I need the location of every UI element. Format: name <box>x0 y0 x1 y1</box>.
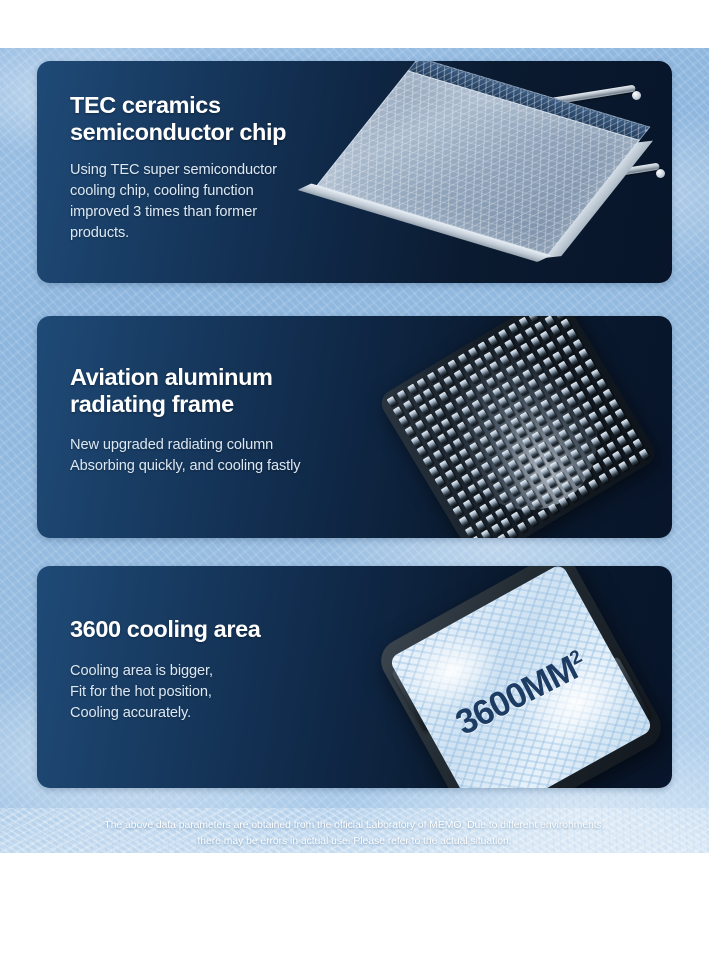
heatsink-pin <box>552 351 563 362</box>
heatsink-pin-row <box>441 389 614 498</box>
heatsink-pin <box>534 389 545 400</box>
cooling-plate-frosted-surface: 3600MM2 <box>388 566 653 788</box>
heatsink-pin <box>520 343 531 354</box>
heatsink-pin <box>538 441 549 452</box>
heatsink-pin <box>498 397 509 408</box>
heatsink-pin <box>519 479 530 490</box>
heatsink-pin <box>557 335 568 346</box>
heatsink-pin <box>489 429 500 440</box>
tec-plate-bottom-edge <box>297 183 551 262</box>
heatsink-pin <box>558 497 569 508</box>
heatsink-pin <box>572 475 583 486</box>
heatsink-body <box>377 316 660 538</box>
heatsink-pin <box>585 359 596 370</box>
heatsink-pin-row <box>429 369 602 478</box>
card-description-frame: New upgraded radiating column Absorbing … <box>70 435 300 477</box>
heatsink-pin <box>621 419 632 430</box>
heatsink-pin <box>465 389 476 400</box>
heatsink-pin <box>536 415 547 426</box>
heatsink-pin <box>558 361 569 372</box>
heatsink-pin-row <box>447 399 620 508</box>
heatsink-pin <box>497 534 508 538</box>
heatsink-pin <box>417 378 428 389</box>
heatsink-pin <box>441 486 452 497</box>
heatsink-pin <box>598 473 609 484</box>
heatsink-pin <box>551 325 562 336</box>
heatsink-pin <box>508 323 519 334</box>
heatsink-pin <box>469 373 480 384</box>
heatsink-base <box>377 316 660 538</box>
heatsink-pin <box>560 387 571 398</box>
card-description-cooling-area: Cooling area is bigger, Fit for the hot … <box>70 661 260 724</box>
heatsink-pin <box>563 345 574 356</box>
heatsink-pin <box>492 387 503 398</box>
heatsink-pin <box>499 492 510 503</box>
heatsink-pin <box>572 407 583 418</box>
heatsink-pin <box>639 449 650 460</box>
heatsink-pin <box>409 410 420 421</box>
heatsink-pin <box>593 395 604 406</box>
heatsink-highlight <box>412 316 628 538</box>
heatsink-pin <box>608 467 619 478</box>
heatsink-pin <box>511 512 522 523</box>
heatsink-pin <box>508 391 519 402</box>
heatsink-pin <box>498 329 509 340</box>
heatsink-pin <box>429 466 440 477</box>
heatsink-pin <box>421 430 432 441</box>
heatsink-pin <box>552 419 563 430</box>
heatsink-pin-row <box>399 319 572 428</box>
heatsink-pin <box>550 393 561 404</box>
heatsink-pin <box>505 502 516 513</box>
heatsink-pin <box>517 522 528 533</box>
heatsink-pin <box>548 503 559 514</box>
heatsink-pin <box>570 449 581 460</box>
heatsink-pin <box>471 399 482 410</box>
cooling-plate-clip-top-left <box>391 662 443 732</box>
heatsink-pin <box>485 446 496 457</box>
heatsink-pin <box>397 390 408 401</box>
heatsink-pin <box>525 489 536 500</box>
heatsink-pin <box>609 399 620 410</box>
heatsink-pin <box>578 417 589 428</box>
heatsink-pin <box>443 376 454 387</box>
card-text-block-tec: TEC ceramics semiconductor chip Using TE… <box>70 92 286 243</box>
heatsink-pin <box>542 357 553 368</box>
heatsink-pin <box>501 518 512 529</box>
heatsink-pin-row <box>435 379 608 488</box>
heatsink-pin <box>465 458 476 469</box>
heatsink-pin <box>524 463 535 474</box>
heatsink-pin <box>467 484 478 495</box>
heatsink-pin <box>504 407 515 418</box>
card-title-cooling-area: 3600 cooling area <box>70 616 260 643</box>
heatsink-pin <box>530 473 541 484</box>
heatsink-pin <box>491 524 502 535</box>
heatsink-pin <box>528 447 539 458</box>
heatsink-pin <box>542 493 553 504</box>
heatsink-pin <box>568 423 579 434</box>
heatsink-pin <box>447 496 458 507</box>
heatsink-pin <box>548 367 559 378</box>
heatsink-pin <box>439 392 450 403</box>
heatsink-pin <box>413 394 424 405</box>
heatsink-pin <box>481 530 492 538</box>
heatsink-pin <box>445 402 456 413</box>
feature-card-cooling-area: 3600MM2 3600 cooling area Cooling area i… <box>37 566 672 788</box>
heatsink-pin <box>473 494 484 505</box>
heatsink-pin <box>588 411 599 422</box>
cooling-plate-area-unit-exponent: 2 <box>567 647 585 670</box>
heatsink-pin-row <box>393 316 566 417</box>
heatsink-pin-row <box>417 349 590 458</box>
heatsink-pin <box>512 443 523 454</box>
heatsink-pin <box>546 409 557 420</box>
heatsink-pin <box>463 432 474 443</box>
heatsink-pin <box>459 448 470 459</box>
heatsink-pin <box>556 471 567 482</box>
tec-lead-tip-bottom <box>656 169 665 178</box>
heatsink-pin <box>536 347 547 358</box>
heatsink-pin <box>483 488 494 499</box>
heatsink-pin <box>435 408 446 419</box>
tec-lead-tip-top <box>632 91 641 100</box>
heatsink-pin <box>522 369 533 380</box>
heatsink-pin <box>425 414 436 425</box>
cooling-plate-body: 3600MM2 <box>373 566 668 788</box>
heatsink-pin <box>599 405 610 416</box>
heatsink-pin <box>555 316 566 320</box>
heatsink-pin <box>471 536 482 538</box>
heatsink-pin <box>546 341 557 352</box>
heatsink-pin-row <box>477 449 650 538</box>
heatsink-pin <box>556 403 567 414</box>
heatsink-pin <box>427 372 438 383</box>
heatsink-pin <box>575 365 586 376</box>
heatsink-pin-row <box>405 329 578 438</box>
cooling-plate-clip-bottom-right <box>599 656 651 726</box>
heatsink-pin <box>507 459 518 470</box>
heatsink-pin <box>586 453 597 464</box>
heatsink-pin <box>567 329 578 340</box>
heatsink-pin <box>587 385 598 396</box>
heatsink-pin <box>509 485 520 496</box>
heatsink-pin <box>527 515 538 526</box>
heatsink-pin <box>449 454 460 465</box>
heatsink-pin <box>584 427 595 438</box>
heatsink-pin <box>387 396 398 407</box>
heatsink-pin <box>495 508 506 519</box>
heatsink-pin <box>546 477 557 488</box>
heatsink-pin <box>528 379 539 390</box>
heatsink-pin <box>488 403 499 414</box>
heatsink-pin <box>612 451 623 462</box>
heatsink-pin <box>566 397 577 408</box>
heatsink-pin <box>393 406 404 417</box>
heatsink-pin <box>475 520 486 531</box>
heatsink-pin <box>453 369 464 380</box>
cooling-plate-image: 3600MM2 <box>382 580 672 788</box>
heatsink-pin <box>544 316 555 326</box>
heatsink-pin <box>482 393 493 404</box>
heatsink-pin <box>486 377 497 388</box>
heatsink-pin <box>536 483 547 494</box>
disclaimer-line-1: The above data parameters are obtained f… <box>8 818 701 834</box>
card-text-block-frame: Aviation aluminum radiating frame New up… <box>70 364 300 477</box>
heatsink-pin <box>542 425 553 436</box>
heatsink-pin <box>457 353 468 364</box>
heatsink-pin <box>526 353 537 364</box>
heatsink-pin-row <box>459 419 632 528</box>
heatsink-pin <box>445 470 456 481</box>
heatsink-pin <box>459 379 470 390</box>
heatsink-pin-row <box>465 429 638 538</box>
heatsink-pin <box>530 337 541 348</box>
heatsink-pin <box>602 457 613 468</box>
heatsink-pin <box>403 400 414 411</box>
heatsink-pin <box>415 420 426 431</box>
heatsink-pin <box>427 440 438 451</box>
heatsink-pin <box>526 421 537 432</box>
disclaimer-text: The above data parameters are obtained f… <box>0 818 709 850</box>
heatsink-pin <box>468 347 479 358</box>
heatsink-pin <box>579 349 590 360</box>
heatsink-pin <box>490 361 501 372</box>
heatsink-pin <box>618 461 629 472</box>
heatsink-pin <box>566 465 577 476</box>
heatsink-pin <box>516 359 527 370</box>
heatsink-pin <box>479 504 490 515</box>
heatsink-pin <box>600 431 611 442</box>
heatsink-pin <box>453 438 464 449</box>
cooling-plate-area-label: 3600MM2 <box>450 644 593 743</box>
heatsink-pin <box>580 443 591 454</box>
heatsink-pin <box>532 363 543 374</box>
card-title-frame: Aviation aluminum radiating frame <box>70 364 300 419</box>
heatsink-pin-row <box>453 409 626 518</box>
heatsink-pin-row <box>471 439 644 538</box>
heatsink-pin <box>463 500 474 511</box>
heatsink-pin <box>524 395 535 406</box>
heatsink-pin <box>554 445 565 456</box>
heatsink-pin <box>518 317 529 328</box>
heatsink-pin <box>561 319 572 330</box>
tec-plate-honeycomb-face <box>316 70 640 255</box>
cooling-plate-vent-lower <box>594 641 628 695</box>
heatsink-pin <box>507 528 518 538</box>
heatsink-pin <box>516 427 527 438</box>
heatsink-pin <box>531 499 542 510</box>
heatsink-pin <box>502 381 513 392</box>
infographic-page: TEC ceramics semiconductor chip Using TE… <box>0 0 709 968</box>
heatsink-pin <box>597 379 608 390</box>
heatsink-pin <box>574 433 585 444</box>
heatsink-pin <box>540 331 551 342</box>
heatsink-pin <box>503 475 514 486</box>
tec-lead-wire-bottom <box>552 163 660 187</box>
heatsink-pin <box>495 439 506 450</box>
heatsink-pin <box>617 435 628 446</box>
heatsink-pin <box>552 487 563 498</box>
tec-plate-top-edge <box>407 61 650 141</box>
heatsink-pin <box>611 425 622 436</box>
heatsink-pin <box>484 351 495 362</box>
heatsink-pin <box>615 409 626 420</box>
heatsink-pin <box>506 365 517 376</box>
heatsink-pin <box>457 422 468 433</box>
heatsink-pin <box>457 490 468 501</box>
card-description-tec: Using TEC super semiconductor cooling ch… <box>70 160 286 243</box>
heatsink-pin <box>544 451 555 462</box>
heatsink-pin <box>453 506 464 517</box>
heatsink-pin <box>476 383 487 394</box>
heatsink-pin <box>439 460 450 471</box>
heatsink-pin <box>455 464 466 475</box>
tec-plate-right-edge <box>545 141 653 258</box>
heatsink-pin <box>510 417 521 428</box>
heatsink-pin <box>455 396 466 407</box>
heatsink-pin <box>481 462 492 473</box>
heatsink-pin <box>500 423 511 434</box>
heatsink-pin <box>590 437 601 448</box>
heatsink-pin <box>441 418 452 429</box>
heatsink-pin <box>588 479 599 490</box>
heatsink-pin <box>477 409 488 420</box>
heatsink-pin <box>497 466 508 477</box>
heatsink-pin <box>506 433 517 444</box>
heatsink-pin <box>435 476 446 487</box>
heatsink-pin <box>540 399 551 410</box>
heatsink-pin <box>399 416 410 427</box>
cooling-plate-area-value: 3600MM <box>450 649 584 743</box>
heatsink-pin-row <box>423 359 596 468</box>
heatsink-pin-row <box>387 316 560 407</box>
heatsink-pin <box>407 384 418 395</box>
heatsink-pin <box>548 435 559 446</box>
heatsink-pin <box>570 381 581 392</box>
heatsink-pin <box>471 468 482 479</box>
heatsink-pin <box>405 426 416 437</box>
heatsink-pin <box>447 360 458 371</box>
heatsink-pin <box>469 510 480 521</box>
heatsink-pin <box>534 321 545 332</box>
tec-lead-wire-top <box>528 85 636 109</box>
heatsink-pin <box>443 444 454 455</box>
heatsink-pin <box>560 455 571 466</box>
heatsink-pin <box>568 491 579 502</box>
heatsink-pin <box>596 447 607 458</box>
heatsink-pin <box>459 516 470 527</box>
heatsink-pin <box>500 355 511 366</box>
heatsink-pin <box>564 439 575 450</box>
heatsink-pin <box>538 373 549 384</box>
heatsink-pin <box>582 469 593 480</box>
heatsink-pin <box>521 505 532 516</box>
heatsink-pin <box>522 437 533 448</box>
heatsink-pin <box>411 436 422 447</box>
heatsink-pin <box>483 419 494 430</box>
heatsink-pin <box>512 375 523 386</box>
heatsink-pin <box>469 442 480 453</box>
heatsink-pin <box>576 391 587 402</box>
heatsink-pin <box>594 421 605 432</box>
heatsink-pin <box>528 316 539 322</box>
feature-card-radiating-frame: Aviation aluminum radiating frame New up… <box>37 316 672 538</box>
heatsink-pin <box>478 341 489 352</box>
tec-ceramic-plate <box>316 70 640 255</box>
heatsink-pin <box>491 456 502 467</box>
heatsink-pin <box>573 339 584 350</box>
heatsink-pin <box>524 327 535 338</box>
heatsink-pin <box>477 478 488 489</box>
heatsink-pin <box>510 349 521 360</box>
heatsink-pin <box>493 482 504 493</box>
heatsink-pin <box>423 456 434 467</box>
heatsink-pin <box>429 398 440 409</box>
heatsink-pin <box>504 339 515 350</box>
heatsink-pin <box>431 424 442 435</box>
heatsink-pin <box>419 404 430 415</box>
heatsink-pin <box>465 526 476 537</box>
heatsink-pin <box>494 345 505 356</box>
heatsink-pin <box>514 401 525 412</box>
heatsink-pin <box>554 377 565 388</box>
heatsink-pin <box>581 375 592 386</box>
heatsink-pin <box>451 480 462 491</box>
heatsink-pin <box>562 413 573 424</box>
heatsink-pin <box>629 455 640 466</box>
heatsink-pin <box>578 485 589 496</box>
heatsink-pin <box>562 481 573 492</box>
heatsink-pin <box>514 333 525 344</box>
heatsink-pin <box>461 474 472 485</box>
heatsink-pin <box>479 436 490 447</box>
heatsink-pin <box>461 406 472 417</box>
heatsink-pin <box>433 382 444 393</box>
heatsink-pin <box>463 363 474 374</box>
heatsink-pin <box>417 446 428 457</box>
heatsink-pin <box>603 389 614 400</box>
heatsink-pin <box>592 463 603 474</box>
heatsink-pin <box>520 411 531 422</box>
heatsink-pin <box>449 386 460 397</box>
heatsink-pin <box>569 355 580 366</box>
heatsink-pin <box>501 449 512 460</box>
disclaimer-line-2: there may be errors in actual use. Pleas… <box>8 834 701 850</box>
heatsink-pin <box>513 469 524 480</box>
heatsink-pin <box>489 498 500 509</box>
heatsink-pin <box>473 426 484 437</box>
feature-card-tec-chip: TEC ceramics semiconductor chip Using TE… <box>37 61 672 283</box>
heatsink-pin <box>437 366 448 377</box>
heatsink-pin <box>423 388 434 399</box>
heatsink-pin <box>518 453 529 464</box>
heatsink-pin <box>518 385 529 396</box>
heatsink-pin-grid <box>387 316 650 538</box>
heatsink-pin <box>488 335 499 346</box>
heatsink-pin <box>451 412 462 423</box>
card-title-tec: TEC ceramics semiconductor chip <box>70 92 286 147</box>
heatsink-pin <box>447 428 458 439</box>
heatsink-pin <box>433 450 444 461</box>
heatsink-pin <box>558 429 569 440</box>
heatsink-pin <box>494 413 505 424</box>
heatsink-pin <box>515 495 526 506</box>
tec-ceramic-chip-image <box>356 67 666 272</box>
heatsink-pin <box>487 472 498 483</box>
heatsink-pin <box>582 401 593 412</box>
heatsink-pin <box>576 459 587 470</box>
